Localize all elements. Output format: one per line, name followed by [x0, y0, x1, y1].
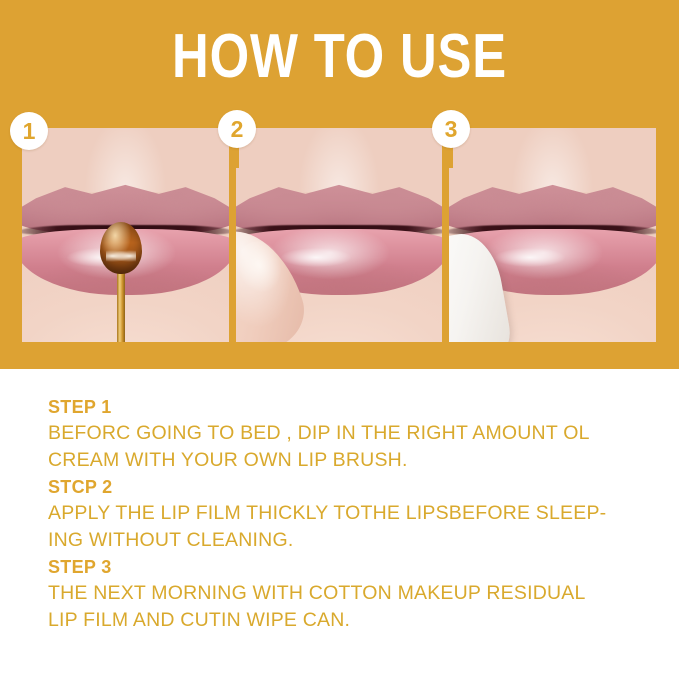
lip-gloss-highlight	[281, 248, 351, 267]
step-3-heading: STEP 3	[48, 554, 648, 580]
step-2-heading: STCP 2	[48, 474, 648, 500]
lips-illustration-1	[22, 128, 229, 342]
lip-gloss-highlight	[495, 248, 565, 267]
step-image-strip	[22, 128, 656, 342]
step-2-body: APPLY THE LIP FILM THICKLY TOTHE LIPSBEF…	[48, 500, 648, 554]
page-title: HOW TO USE	[61, 22, 618, 92]
step-badge-1: 1	[10, 112, 48, 150]
step-3-body: THE NEXT MORNING WITH COTTON MAKEUP RESI…	[48, 580, 648, 634]
step-badge-3: 3	[432, 110, 470, 148]
step-image-panel-2	[229, 128, 443, 342]
applicator-tip-icon	[100, 222, 142, 274]
step-1-heading: STEP 1	[48, 394, 648, 420]
lips-illustration-3	[449, 128, 656, 342]
instructions-section: STEP 1 BEFORC GOING TO BED , DIP IN THE …	[48, 394, 648, 634]
step-1-body: BEFORC GOING TO BED , DIP IN THE RIGHT A…	[48, 420, 648, 474]
step-image-panel-3	[442, 128, 656, 342]
hero-banner: HOW TO USE	[0, 0, 679, 369]
lips-illustration-2	[236, 128, 443, 342]
step-image-panel-1	[22, 128, 229, 342]
step-badge-2: 2	[218, 110, 256, 148]
